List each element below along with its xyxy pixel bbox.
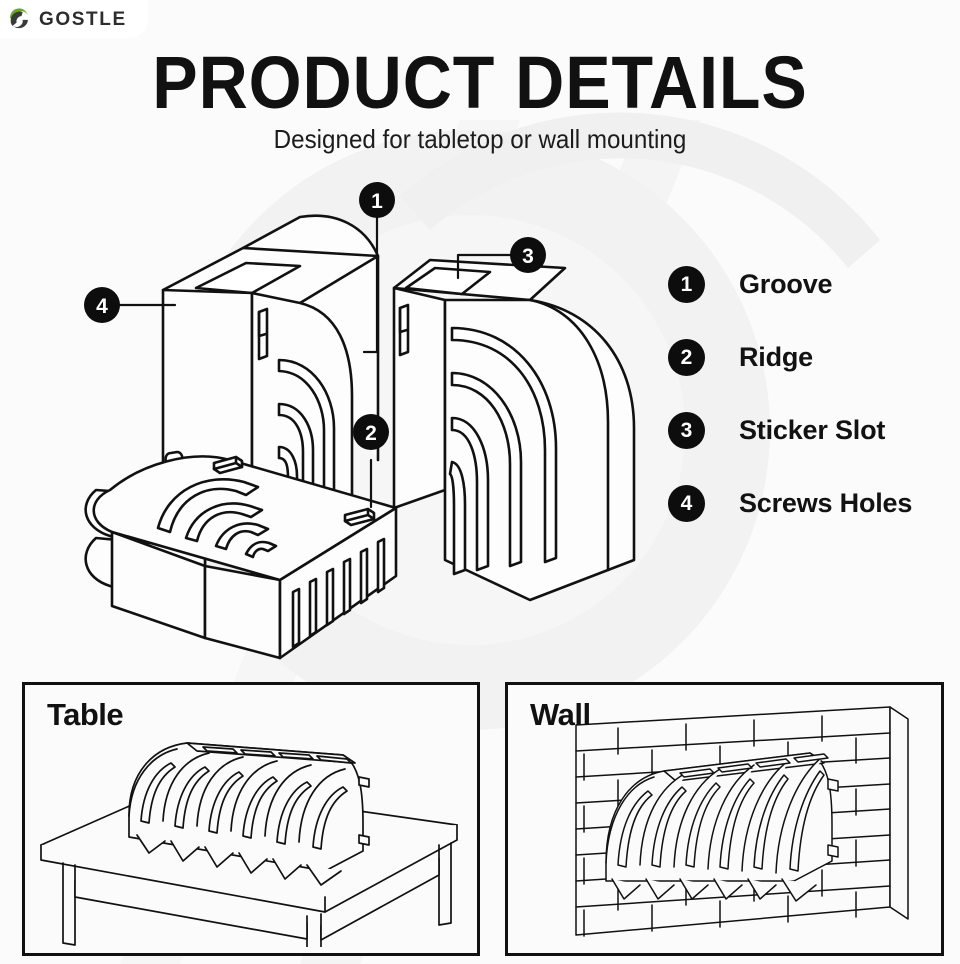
legend-badge-1: 1	[668, 266, 705, 303]
legend-item-sticker-slot: 3 Sticker Slot	[668, 394, 958, 467]
page-subtitle: Designed for tabletop or wall mounting	[34, 126, 927, 152]
callout-badge-2: 2	[353, 414, 389, 450]
legend-item-ridge: 2 Ridge	[668, 321, 958, 394]
swirl-logo-icon	[6, 6, 32, 32]
callout-badge-1: 1	[359, 182, 395, 218]
svg-text:3: 3	[522, 245, 534, 268]
brand-name: GOSTLE	[39, 10, 127, 29]
legend-item-screws-holes: 4 Screws Holes	[668, 467, 958, 540]
panel-table-mounting: Table	[22, 682, 480, 956]
legend-label-3: Sticker Slot	[739, 417, 885, 444]
legend-list: 1 Groove 2 Ridge 3 Sticker Slot 4 Screws…	[668, 248, 958, 540]
legend-label-2: Ridge	[739, 344, 813, 371]
product-details-infographic: GOSTLE PRODUCT DETAILS Designed for tabl…	[0, 0, 960, 964]
callout-badge-4: 4	[84, 287, 120, 323]
svg-text:4: 4	[96, 295, 108, 318]
legend-label-4: Screws Holes	[739, 490, 912, 517]
svg-text:2: 2	[365, 422, 377, 445]
legend-badge-3: 3	[668, 412, 705, 449]
legend-label-1: Groove	[739, 271, 832, 298]
panel-title-table: Table	[47, 699, 123, 730]
unit-right-standing	[394, 260, 634, 600]
panel-title-wall: Wall	[530, 699, 591, 730]
panel-wall-mounting: Wall	[505, 682, 944, 956]
legend-badge-2: 2	[668, 339, 705, 376]
page-title: PRODUCT DETAILS	[38, 46, 921, 120]
legend-item-groove: 1 Groove	[668, 248, 958, 321]
legend-badge-4: 4	[668, 485, 705, 522]
svg-text:1: 1	[371, 190, 383, 213]
callout-badge-3: 3	[510, 237, 546, 273]
brand-logo: GOSTLE	[0, 0, 148, 38]
